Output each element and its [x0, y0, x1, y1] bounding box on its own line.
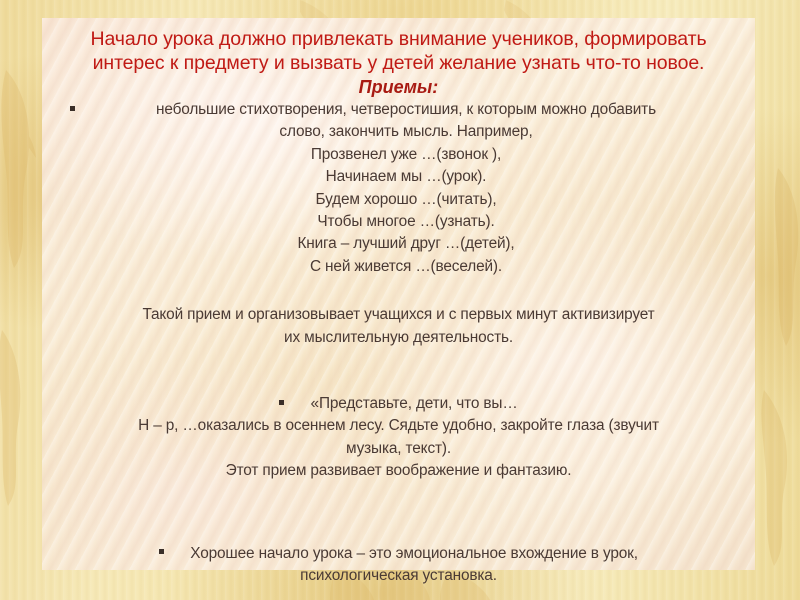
paragraph-conclusion-two: Хорошее начало урока – это эмоциональное…	[70, 543, 727, 588]
spacer	[70, 483, 727, 509]
list-item-text: «Представьте, дети, что вы…	[311, 395, 518, 412]
square-bullet-icon	[159, 549, 164, 554]
section-subtitle: Приемы:	[70, 76, 727, 99]
paragraph-conclusion-one: Такой прием и организовывает учащихся и …	[70, 304, 727, 349]
paragraph-imagination: «Представьте, дети, что вы… Н – р, …оказ…	[70, 393, 727, 483]
square-bullet-icon	[279, 400, 284, 405]
text-line: Прозвенел уже …(звонок ),	[85, 144, 727, 166]
text-line: небольшие стихотворения, четверостишия, …	[85, 99, 727, 121]
text-line: Чтобы многое …(узнать).	[85, 211, 727, 233]
square-bullet-icon	[70, 106, 75, 111]
list-item: «Представьте, дети, что вы…	[70, 393, 727, 415]
text-line: С ней живется …(веселей).	[85, 256, 727, 278]
list-item: небольшие стихотворения, четверостишия, …	[70, 99, 727, 278]
text-line: слово, закончить мысль. Например,	[85, 121, 727, 143]
list-item: Хорошее начало урока – это эмоциональное…	[70, 543, 727, 565]
spacer	[70, 349, 727, 375]
text-line: Начинаем мы …(урок).	[85, 166, 727, 188]
spacer	[70, 535, 727, 543]
slide-content-panel: Начало урока должно привлекать внимание …	[42, 18, 755, 570]
page-title: Начало урока должно привлекать внимание …	[70, 28, 727, 75]
spacer	[70, 278, 727, 304]
text-line: Н – р, …оказались в осеннем лесу. Сядьте…	[70, 415, 727, 437]
list-item-text: Хорошее начало урока – это эмоциональное…	[190, 545, 638, 562]
text-line: Будем хорошо …(читать),	[85, 189, 727, 211]
text-line: психологическая установка.	[70, 565, 727, 587]
spacer	[70, 509, 727, 535]
text-line: их мыслительную деятельность.	[70, 327, 727, 349]
text-line: Такой прием и организовывает учащихся и …	[70, 304, 727, 326]
text-line: Книга – лучший друг …(детей),	[85, 233, 727, 255]
list-item-text: небольшие стихотворения, четверостишия, …	[85, 99, 727, 278]
spacer	[70, 375, 727, 393]
text-line: музыка, текст).	[70, 438, 727, 460]
text-line: Этот прием развивает воображение и фанта…	[70, 460, 727, 482]
